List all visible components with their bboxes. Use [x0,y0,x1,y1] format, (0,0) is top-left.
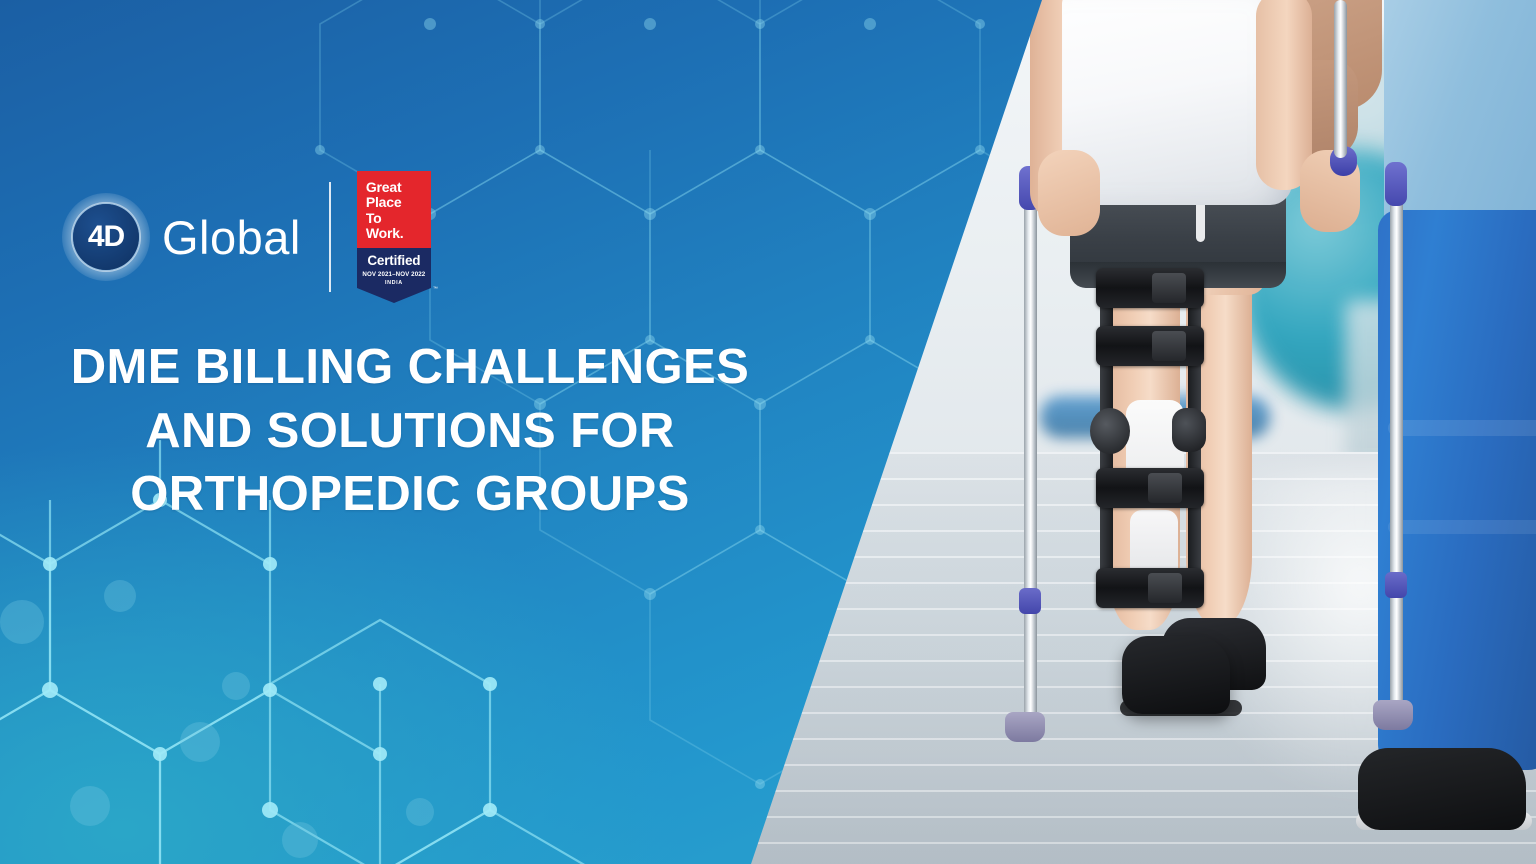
crutch-right-rubber-tip [1373,700,1413,730]
crutch-left-rubber-tip [1005,712,1045,742]
badge-line-3: To [366,211,424,226]
great-place-to-work-badge-icon[interactable]: Great Place To Work. Certified NOV 2021–… [357,171,431,302]
brace-buckle-icon [1152,273,1186,303]
crutch-right-height-adjuster [1385,572,1407,598]
scrub-fold [1388,420,1536,436]
badge-date-range: NOV 2021–NOV 2022 [361,271,427,278]
badge-certified-label: Certified [361,253,427,268]
badge-point-icon [357,288,431,303]
brand-wordmark: Global [162,210,301,265]
patient-left-shoe [1122,636,1230,714]
badge-line-1: Great [366,180,424,195]
marketing-banner: 4D Global Great Place To Work. Certified… [0,0,1536,864]
therapist-shoe [1358,748,1526,830]
brace-strap [1096,268,1204,308]
4d-global-logo-icon[interactable]: 4D [62,193,150,281]
scrub-fold [1388,520,1536,534]
vertical-divider-icon [329,182,331,292]
badge-line-4: Work. [366,226,424,241]
headline-line-2: AND SOLUTIONS FOR [0,400,820,464]
brace-strap [1096,326,1204,366]
badge-navy-block: Certified NOV 2021–NOV 2022 INDIA ™ [357,248,431,288]
patient-left-hand [1038,150,1100,236]
headline-line-1: DME BILLING CHALLENGES [0,336,820,400]
brace-hinge-icon [1090,408,1130,454]
logo-mark-text: 4D [73,204,139,270]
brace-buckle-icon [1152,331,1186,361]
crutch-right-upper-cuff [1334,0,1347,158]
knee-brace-icon [1096,268,1204,620]
forearm-crutch-left-shaft [1024,200,1037,720]
brace-buckle-icon [1148,473,1182,503]
page-title: DME BILLING CHALLENGES AND SOLUTIONS FOR… [0,336,820,527]
forearm-crutch-right-shaft [1390,196,1403,706]
headline-line-3: ORTHOPEDIC GROUPS [0,463,820,527]
brand-logo-row[interactable]: 4D Global Great Place To Work. Certified… [62,178,431,296]
brace-hinge-icon [1172,408,1206,452]
brace-buckle-icon [1148,573,1182,603]
badge-trademark-icon: ™ [433,286,438,292]
badge-line-2: Place [366,195,424,210]
badge-red-block: Great Place To Work. [357,171,431,247]
badge-country: INDIA [361,280,427,286]
crutch-left-height-adjuster [1019,588,1041,614]
crutch-right-collar [1385,162,1407,206]
